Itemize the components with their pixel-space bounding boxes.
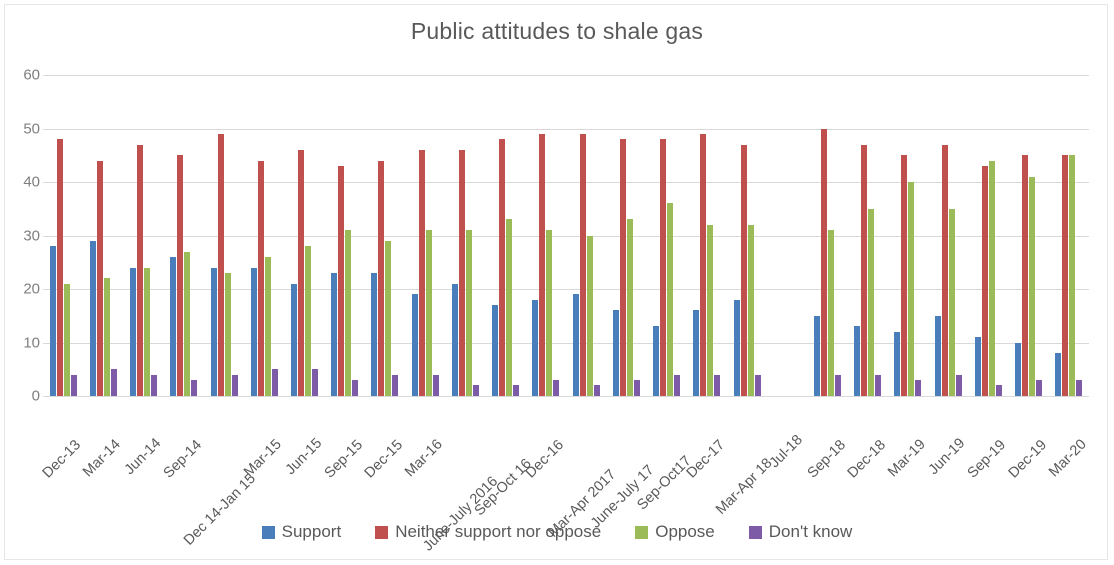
bar[interactable] xyxy=(265,257,271,396)
bar[interactable] xyxy=(660,139,666,396)
bar[interactable] xyxy=(466,230,472,396)
bar[interactable] xyxy=(371,273,377,396)
bar-group xyxy=(164,75,204,396)
bar[interactable] xyxy=(50,246,56,396)
legend-label: Don't know xyxy=(769,522,853,542)
bar[interactable] xyxy=(594,385,600,396)
legend-item[interactable]: Support xyxy=(262,522,342,542)
legend-label: Neither support nor oppose xyxy=(395,522,601,542)
bar[interactable] xyxy=(345,230,351,396)
bar[interactable] xyxy=(211,268,217,396)
bar[interactable] xyxy=(854,326,860,396)
bar[interactable] xyxy=(90,241,96,396)
chart-legend: SupportNeither support nor opposeOpposeD… xyxy=(0,522,1114,542)
bar[interactable] xyxy=(57,139,63,396)
bar[interactable] xyxy=(861,145,867,396)
bar-group xyxy=(325,75,365,396)
bar[interactable] xyxy=(412,294,418,396)
bar[interactable] xyxy=(452,284,458,396)
bar[interactable] xyxy=(1015,343,1021,397)
legend-swatch-icon xyxy=(262,526,275,539)
bar[interactable] xyxy=(177,155,183,396)
bar[interactable] xyxy=(908,182,914,396)
bar[interactable] xyxy=(104,278,110,396)
x-tick-label: Dec-15 xyxy=(362,437,406,481)
x-tick-label: Mar-20 xyxy=(1046,436,1090,480)
bar[interactable] xyxy=(949,209,955,396)
bar[interactable] xyxy=(151,375,157,396)
x-tick-label: Dec-13 xyxy=(40,437,84,481)
bar[interactable] xyxy=(868,209,874,396)
bar[interactable] xyxy=(137,145,143,396)
y-tick-label: 60 xyxy=(0,67,40,84)
bar[interactable] xyxy=(975,337,981,396)
bar[interactable] xyxy=(580,134,586,396)
legend-label: Support xyxy=(282,522,342,542)
bar[interactable] xyxy=(707,225,713,396)
bar[interactable] xyxy=(184,252,190,396)
bar[interactable] xyxy=(258,161,264,396)
bar[interactable] xyxy=(506,219,512,396)
bar[interactable] xyxy=(513,385,519,396)
x-tick-label: Mar-Apr 18 xyxy=(713,455,776,518)
bar[interactable] xyxy=(459,150,465,396)
bar[interactable] xyxy=(573,294,579,396)
y-tick-label: 0 xyxy=(0,388,40,405)
bar[interactable] xyxy=(312,369,318,396)
bar[interactable] xyxy=(232,375,238,396)
bar-group xyxy=(244,75,284,396)
bar[interactable] xyxy=(111,369,117,396)
bar-group xyxy=(445,75,485,396)
y-tick-label: 30 xyxy=(0,227,40,244)
x-tick-label: June-July 2016 xyxy=(421,474,502,555)
bar-group xyxy=(405,75,445,396)
bar[interactable] xyxy=(1055,353,1061,396)
bar[interactable] xyxy=(741,145,747,396)
x-tick-label: Mar-14 xyxy=(80,436,124,480)
bar[interactable] xyxy=(130,268,136,396)
bar[interactable] xyxy=(305,246,311,396)
y-tick-label: 10 xyxy=(0,334,40,351)
bar[interactable] xyxy=(814,316,820,396)
bar-group xyxy=(1009,75,1049,396)
x-tick-label: Dec-16 xyxy=(523,437,567,481)
bar[interactable] xyxy=(331,273,337,396)
legend-item[interactable]: Don't know xyxy=(749,522,853,542)
bar[interactable] xyxy=(426,230,432,396)
bar[interactable] xyxy=(71,375,77,396)
bar-group xyxy=(848,75,888,396)
bar[interactable] xyxy=(734,300,740,396)
bar[interactable] xyxy=(653,326,659,396)
bar[interactable] xyxy=(674,375,680,396)
bar-group xyxy=(968,75,1008,396)
bar[interactable] xyxy=(291,284,297,396)
legend-item[interactable]: Oppose xyxy=(635,522,715,542)
y-tick-label: 50 xyxy=(0,120,40,137)
x-tick-label: Jun-15 xyxy=(282,435,325,478)
bar[interactable] xyxy=(539,134,545,396)
bar[interactable] xyxy=(532,300,538,396)
bar[interactable] xyxy=(225,273,231,396)
bar[interactable] xyxy=(419,150,425,396)
bar[interactable] xyxy=(693,310,699,396)
x-tick-label: Sep-18 xyxy=(804,437,848,481)
bar-group xyxy=(83,75,123,396)
x-tick-label: Sep-15 xyxy=(321,437,365,481)
y-tick-label: 20 xyxy=(0,281,40,298)
bar[interactable] xyxy=(828,230,834,396)
bar-group xyxy=(566,75,606,396)
bar[interactable] xyxy=(191,380,197,396)
legend-swatch-icon xyxy=(749,526,762,539)
bar[interactable] xyxy=(835,375,841,396)
bar-group xyxy=(888,75,928,396)
bar-group xyxy=(526,75,566,396)
chart-container: Public attitudes to shale gas 0102030405… xyxy=(0,0,1114,565)
bar[interactable] xyxy=(996,385,1002,396)
x-tick-label: Mar-16 xyxy=(402,436,446,480)
bar[interactable] xyxy=(942,145,948,396)
bar-group xyxy=(204,75,244,396)
bar-group xyxy=(43,75,83,396)
x-tick-label: Dec-18 xyxy=(844,437,888,481)
bar-group xyxy=(123,75,163,396)
legend-item[interactable]: Neither support nor oppose xyxy=(375,522,601,542)
bar[interactable] xyxy=(989,161,995,396)
bar[interactable] xyxy=(982,166,988,396)
bar[interactable] xyxy=(473,385,479,396)
bar[interactable] xyxy=(338,166,344,396)
bar[interactable] xyxy=(433,375,439,396)
bar[interactable] xyxy=(352,380,358,396)
plot-area: 0102030405060 xyxy=(43,70,1089,401)
bar[interactable] xyxy=(492,305,498,396)
bar[interactable] xyxy=(1022,155,1028,396)
bar[interactable] xyxy=(714,375,720,396)
bar-group xyxy=(1049,75,1089,396)
bar[interactable] xyxy=(956,375,962,396)
bar[interactable] xyxy=(1076,380,1082,396)
legend-swatch-icon xyxy=(375,526,388,539)
bar-group xyxy=(928,75,968,396)
bar[interactable] xyxy=(755,375,761,396)
bar[interactable] xyxy=(821,129,827,397)
bar[interactable] xyxy=(170,257,176,396)
bar[interactable] xyxy=(144,268,150,396)
bar[interactable] xyxy=(901,155,907,396)
bar[interactable] xyxy=(385,241,391,396)
bar[interactable] xyxy=(620,139,626,396)
bar[interactable] xyxy=(627,219,633,396)
bar[interactable] xyxy=(251,268,257,396)
bar[interactable] xyxy=(700,134,706,396)
bar[interactable] xyxy=(748,225,754,396)
bar-group xyxy=(767,75,807,396)
bar-group xyxy=(646,75,686,396)
bar[interactable] xyxy=(378,161,384,396)
x-tick-label: Dec-19 xyxy=(1005,437,1049,481)
bar[interactable] xyxy=(587,236,593,397)
bar-group xyxy=(365,75,405,396)
bar[interactable] xyxy=(935,316,941,396)
bar[interactable] xyxy=(546,230,552,396)
bar[interactable] xyxy=(1062,155,1068,396)
bar-group xyxy=(727,75,767,396)
bar[interactable] xyxy=(894,332,900,396)
bar[interactable] xyxy=(875,375,881,396)
bar[interactable] xyxy=(298,150,304,396)
chart-title: Public attitudes to shale gas xyxy=(0,18,1114,45)
bar-group xyxy=(606,75,646,396)
bar[interactable] xyxy=(272,369,278,396)
bar-group xyxy=(284,75,324,396)
x-tick-label: Mar-15 xyxy=(241,436,285,480)
x-tick-label: Jun-14 xyxy=(121,435,164,478)
bar-group xyxy=(687,75,727,396)
bar[interactable] xyxy=(613,310,619,396)
bar[interactable] xyxy=(667,203,673,396)
bar[interactable] xyxy=(553,380,559,396)
bar[interactable] xyxy=(97,161,103,396)
legend-swatch-icon xyxy=(635,526,648,539)
bar[interactable] xyxy=(634,380,640,396)
x-tick-label: Sep-14 xyxy=(160,437,204,481)
bar[interactable] xyxy=(915,380,921,396)
bar-group xyxy=(486,75,526,396)
legend-label: Oppose xyxy=(655,522,715,542)
axis-line-zero xyxy=(43,396,1089,397)
bar[interactable] xyxy=(1069,155,1075,396)
x-tick-label: Jun-19 xyxy=(926,435,969,478)
bar[interactable] xyxy=(1029,177,1035,396)
bar[interactable] xyxy=(1036,380,1042,396)
x-tick-label: Jul-18 xyxy=(767,432,806,471)
bar[interactable] xyxy=(499,139,505,396)
bar[interactable] xyxy=(64,284,70,396)
bar-group xyxy=(807,75,847,396)
bar[interactable] xyxy=(392,375,398,396)
x-tick-label: Sep-19 xyxy=(965,437,1009,481)
x-tick-label: Mar-19 xyxy=(885,436,929,480)
y-tick-label: 40 xyxy=(0,174,40,191)
bar[interactable] xyxy=(218,134,224,396)
